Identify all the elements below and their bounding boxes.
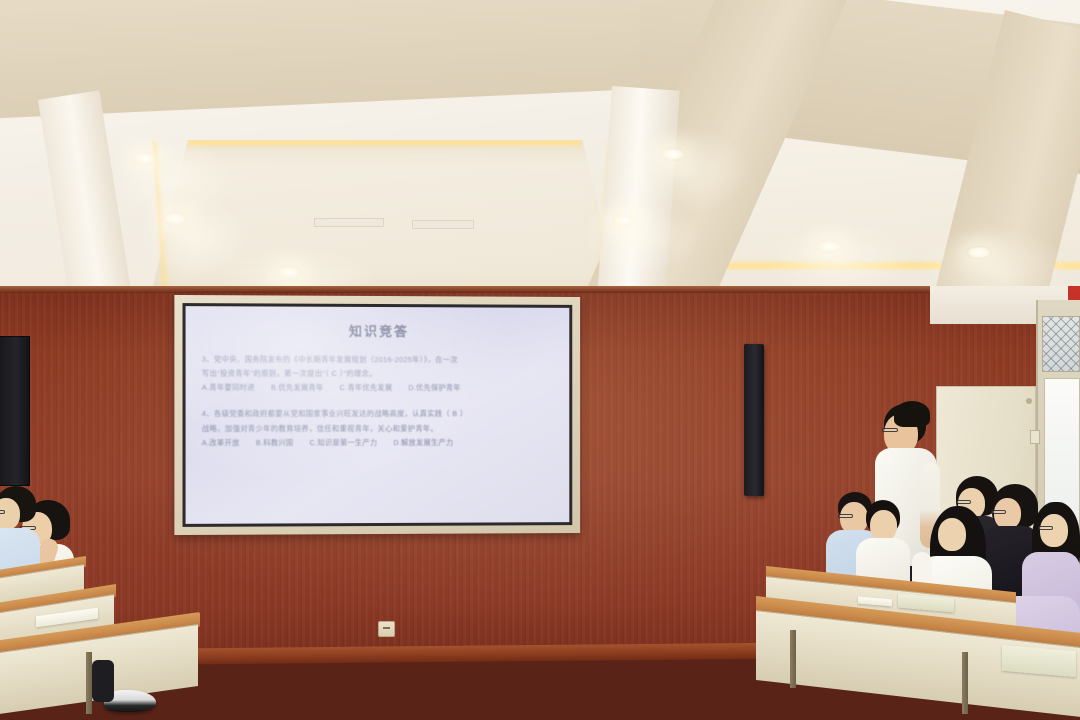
question-4-line-1: 4、各级党委和政府都要从党和国家事业兴旺发达的战略高度，认真实践（ B ） bbox=[202, 407, 554, 421]
student-r5-glasses-icon bbox=[991, 510, 1006, 514]
option-4-b: B.科教兴国 bbox=[256, 436, 294, 451]
student-r3-head bbox=[938, 518, 966, 551]
question-3-options: A.青年要同时进 B.优先发展青年 C.青年优先发展 D.优先保护青年 bbox=[202, 381, 554, 396]
question-3-line-2: 写出“投资青年”的原则，第一次提出“（ C ）”的理念。 bbox=[202, 367, 554, 382]
door-knob[interactable] bbox=[1026, 398, 1032, 404]
desk-right-leg-1 bbox=[790, 630, 796, 688]
slide-title: 知识竞答 bbox=[202, 320, 554, 340]
option-3-a: A.青年要同时进 bbox=[202, 381, 255, 396]
desk-right-leg-2 bbox=[962, 652, 968, 714]
student-r6-head bbox=[1040, 514, 1068, 547]
question-3-line-1: 3、党中央、国务院发布的《中长期青年发展规划（2016-2025年）》，在一次 bbox=[202, 353, 554, 368]
quiz-question-4: 4、各级党委和政府都要从党和国家事业兴旺发达的战略高度，认真实践（ B ） 战略… bbox=[202, 407, 554, 450]
student-r4-glasses-icon bbox=[956, 500, 971, 504]
downlight-6 bbox=[966, 246, 992, 259]
standing-student-glasses-icon bbox=[882, 428, 898, 432]
downlight-5 bbox=[816, 240, 842, 253]
student-l2-glasses-icon bbox=[0, 510, 5, 514]
speaker-right bbox=[744, 344, 764, 496]
socket-slots bbox=[383, 627, 390, 629]
screen-surface: 知识竞答 3、党中央、国务院发布的《中长期青年发展规划（2016-2025年）》… bbox=[186, 306, 570, 524]
projector-screen[interactable]: 知识竞答 3、党中央、国务院发布的《中长期青年发展规划（2016-2025年）》… bbox=[174, 295, 580, 535]
air-vent-1 bbox=[314, 218, 384, 227]
student-r2-head bbox=[870, 510, 897, 541]
standing-student-hair-top bbox=[894, 401, 930, 427]
downlight-4 bbox=[612, 214, 638, 227]
question-4-line-2: 战略，加强对青少年的教育培养，信任和重视青年，关心和爱护青年。 bbox=[202, 421, 554, 435]
wall-top-trim bbox=[0, 286, 1080, 293]
student-r1-glasses-icon bbox=[838, 514, 853, 518]
option-4-a: A.改革开放 bbox=[202, 436, 240, 451]
speaker-left bbox=[0, 336, 30, 486]
student-r6-glasses-icon bbox=[1038, 526, 1053, 530]
downlight-7 bbox=[276, 266, 302, 279]
option-3-c: C.青年优先发展 bbox=[340, 381, 393, 395]
option-3-b: B.优先发展青年 bbox=[271, 381, 324, 396]
ceiling bbox=[0, 0, 1080, 292]
light-wash-4 bbox=[580, 196, 700, 274]
option-3-d: D.优先保护青年 bbox=[408, 381, 460, 395]
downlight-1 bbox=[132, 152, 158, 165]
classroom-scene: 知识竞答 3、党中央、国务院发布的《中长期青年发展规划（2016-2025年）》… bbox=[0, 0, 1080, 720]
wall-socket[interactable] bbox=[378, 621, 395, 637]
wall-switch-upper[interactable] bbox=[1030, 430, 1040, 444]
downlight-3 bbox=[660, 148, 686, 161]
question-4-options: A.改革开放 B.科教兴国 C.知识是第一生产力 D.解放发展生产力 bbox=[202, 435, 554, 450]
light-wash-5 bbox=[770, 222, 910, 292]
window-grille-icon bbox=[1042, 316, 1080, 372]
option-4-c: C.知识是第一生产力 bbox=[310, 436, 378, 451]
air-vent-2 bbox=[412, 220, 474, 229]
student-l-legs bbox=[92, 660, 114, 702]
option-4-d: D.解放发展生产力 bbox=[393, 435, 453, 449]
slide-content: 知识竞答 3、党中央、国务院发布的《中长期青年发展规划（2016-2025年）》… bbox=[186, 306, 570, 524]
quiz-question-3: 3、党中央、国务院发布的《中长期青年发展规划（2016-2025年）》，在一次 … bbox=[202, 353, 554, 396]
downlight-2 bbox=[162, 212, 188, 225]
